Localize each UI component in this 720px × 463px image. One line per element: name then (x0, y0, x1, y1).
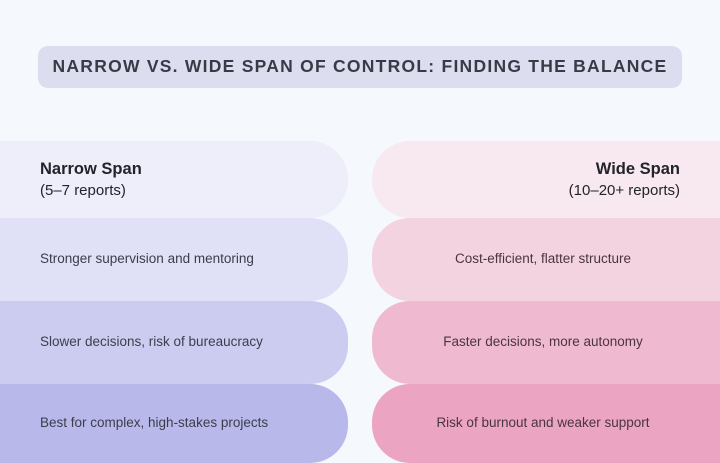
narrow-span-subheading: (5–7 reports) (40, 181, 142, 201)
page-title: Narrow vs. Wide Span of Control: Finding… (53, 58, 668, 76)
column-narrow-span: Narrow Span (5–7 reports) Stronger super… (0, 141, 348, 463)
infographic-canvas: Narrow vs. Wide Span of Control: Finding… (0, 0, 720, 463)
narrow-span-row-2-label: Slower decisions, risk of bureaucracy (40, 333, 263, 351)
wide-span-heading: Wide Span (406, 158, 680, 180)
comparison-grid: Narrow Span (5–7 reports) Stronger super… (0, 141, 720, 463)
narrow-span-row-3: Best for complex, high-stakes projects (0, 384, 348, 463)
wide-span-row-3-label: Risk of burnout and weaker support (436, 414, 649, 432)
wide-span-row-2-label: Faster decisions, more autonomy (443, 333, 643, 351)
wide-span-subheading: (10–20+ reports) (406, 181, 680, 201)
narrow-span-heading: Narrow Span (40, 158, 142, 180)
narrow-span-header: Narrow Span (5–7 reports) (0, 141, 348, 218)
column-wide-span: Wide Span (10–20+ reports) Cost-efficien… (372, 141, 720, 463)
narrow-span-row-1: Stronger supervision and mentoring (0, 218, 348, 301)
narrow-span-row-3-label: Best for complex, high-stakes projects (40, 414, 268, 432)
wide-span-row-1-label: Cost-efficient, flatter structure (455, 250, 631, 268)
wide-span-row-2: Faster decisions, more autonomy (372, 301, 720, 384)
title-banner: Narrow vs. Wide Span of Control: Finding… (38, 46, 682, 88)
wide-span-header: Wide Span (10–20+ reports) (372, 141, 720, 218)
wide-span-row-1: Cost-efficient, flatter structure (372, 218, 720, 301)
narrow-span-row-1-label: Stronger supervision and mentoring (40, 250, 254, 268)
wide-span-header-stack: Wide Span (10–20+ reports) (406, 158, 680, 201)
narrow-span-row-2: Slower decisions, risk of bureaucracy (0, 301, 348, 384)
wide-span-row-3: Risk of burnout and weaker support (372, 384, 720, 463)
narrow-span-header-stack: Narrow Span (5–7 reports) (40, 158, 142, 201)
